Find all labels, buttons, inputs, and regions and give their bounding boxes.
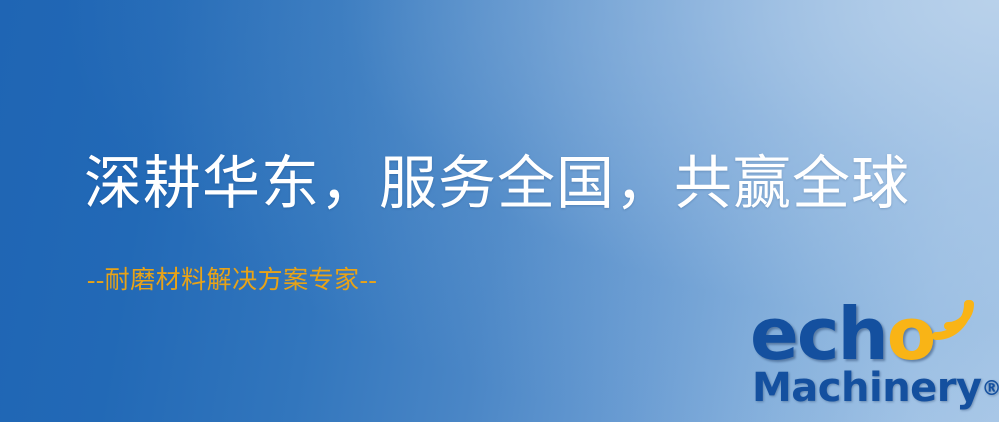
logo-company-name: Machinery® xyxy=(752,368,999,408)
banner-subtitle: --耐磨材料解决方案专家-- xyxy=(87,268,377,293)
logo-wordmark: echo xyxy=(748,296,992,372)
banner-headline: 深耕华东，服务全国，共赢全球 xyxy=(84,155,910,213)
echo-machinery-logo[interactable]: echo Machinery® xyxy=(748,296,992,422)
logo-company-text: Machinery xyxy=(752,365,982,411)
logo-echo-o: o xyxy=(887,292,934,376)
logo-echo-text: echo xyxy=(750,298,934,370)
signal-waves-icon xyxy=(930,292,992,354)
promo-banner: 深耕华东，服务全国，共赢全球 --耐磨材料解决方案专家-- echo Machi… xyxy=(0,0,999,422)
registered-trademark-icon: ® xyxy=(982,376,999,400)
logo-echo-prefix: ech xyxy=(750,292,887,376)
